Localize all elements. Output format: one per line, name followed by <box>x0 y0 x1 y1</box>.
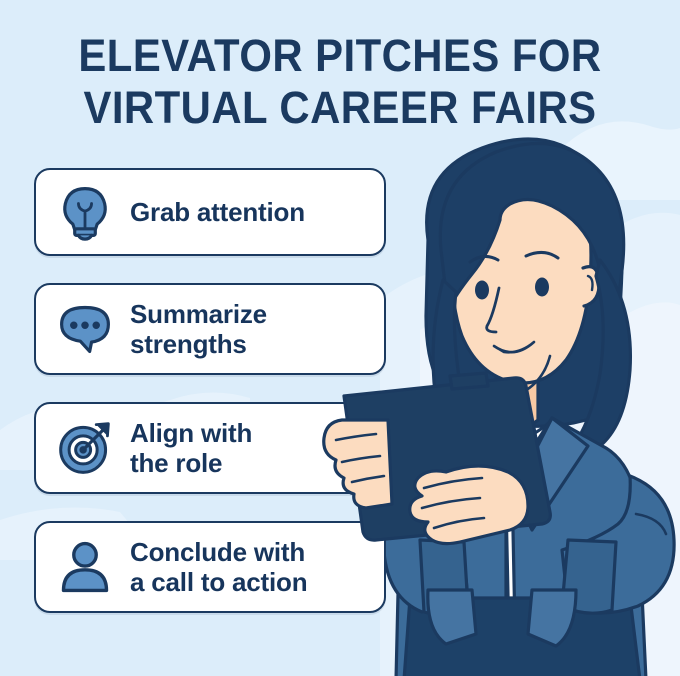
step-label-line-1: Align with <box>130 418 252 448</box>
step-card-conclude-with-a-call-to-action[interactable]: Conclude with a call to action <box>34 521 386 613</box>
step-label: Grab attention <box>130 197 305 227</box>
step-label-line-1: Grab attention <box>130 197 305 227</box>
poster-title: ELEVATOR PITCHES FOR VIRTUAL CAREER FAIR… <box>0 30 680 134</box>
step-card-align-with-the-role[interactable]: Align with the role <box>34 402 386 494</box>
step-label-line-2: strengths <box>130 329 247 359</box>
steps-list: Grab attention Summarize strengths <box>34 168 386 640</box>
step-label: Summarize strengths <box>130 299 267 359</box>
infographic-poster: ELEVATOR PITCHES FOR VIRTUAL CAREER FAIR… <box>0 0 680 676</box>
target-icon <box>54 417 116 479</box>
person-icon <box>54 536 116 598</box>
step-label-line-2: the role <box>130 448 222 478</box>
step-label: Conclude with a call to action <box>130 537 307 597</box>
speech-bubble-icon <box>54 298 116 360</box>
step-label: Align with the role <box>130 418 252 478</box>
step-label-line-2: a call to action <box>130 567 307 597</box>
step-label-line-1: Conclude with <box>130 537 305 567</box>
title-line-1: ELEVATOR PITCHES FOR <box>24 30 656 82</box>
step-card-summarize-strengths[interactable]: Summarize strengths <box>34 283 386 375</box>
step-label-line-1: Summarize <box>130 299 267 329</box>
lightbulb-icon <box>54 181 116 243</box>
title-line-2: VIRTUAL CAREER FAIRS <box>24 82 656 134</box>
step-card-grab-attention[interactable]: Grab attention <box>34 168 386 256</box>
